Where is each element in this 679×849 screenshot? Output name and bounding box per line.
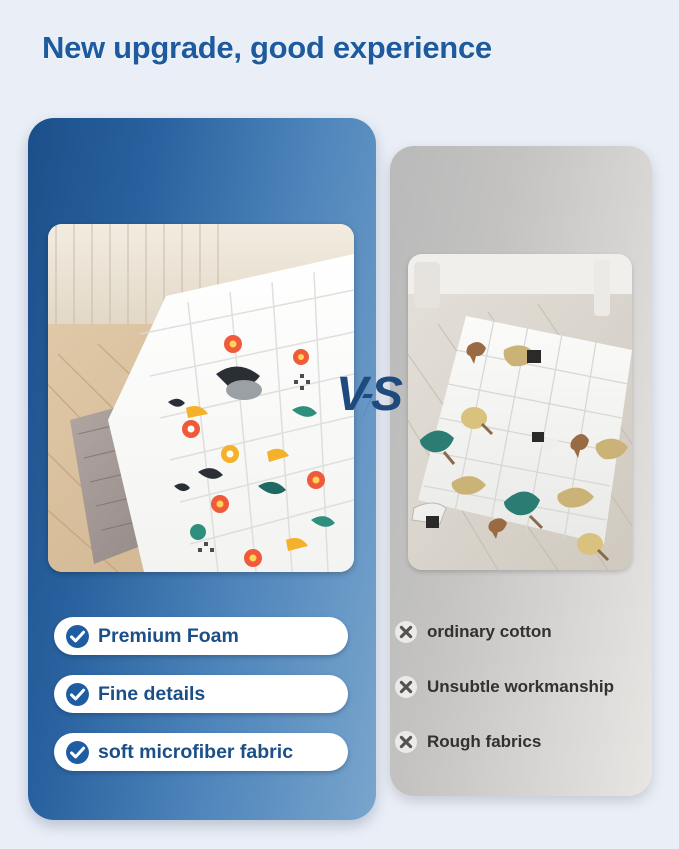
drawback-label: ordinary cotton <box>427 622 552 642</box>
svg-text:S: S <box>371 368 403 421</box>
check-circle-icon <box>65 624 90 649</box>
ours-product-photo <box>48 224 354 572</box>
feature-label: Fine details <box>98 683 205 706</box>
check-circle-icon <box>65 740 90 765</box>
page-title: New upgrade, good experience <box>42 30 652 66</box>
drawback-label: Rough fabrics <box>427 732 541 752</box>
x-circle-icon <box>394 620 418 644</box>
drawback-row: Rough fabrics <box>394 727 541 757</box>
drawback-row: Unsubtle workmanship <box>394 672 614 702</box>
x-circle-icon <box>394 730 418 754</box>
drawback-row: ordinary cotton <box>394 617 552 647</box>
feature-pill[interactable]: Premium Foam <box>54 617 348 655</box>
feature-label: Premium Foam <box>98 625 239 648</box>
drawback-label: Unsubtle workmanship <box>427 677 614 697</box>
feature-label: soft microfiber fabric <box>98 741 293 764</box>
x-circle-icon <box>394 675 418 699</box>
feature-pill[interactable]: soft microfiber fabric <box>54 733 348 771</box>
check-circle-icon <box>65 682 90 707</box>
others-product-photo <box>408 254 632 570</box>
feature-pill[interactable]: Fine details <box>54 675 348 713</box>
vs-badge: V S <box>337 358 409 444</box>
